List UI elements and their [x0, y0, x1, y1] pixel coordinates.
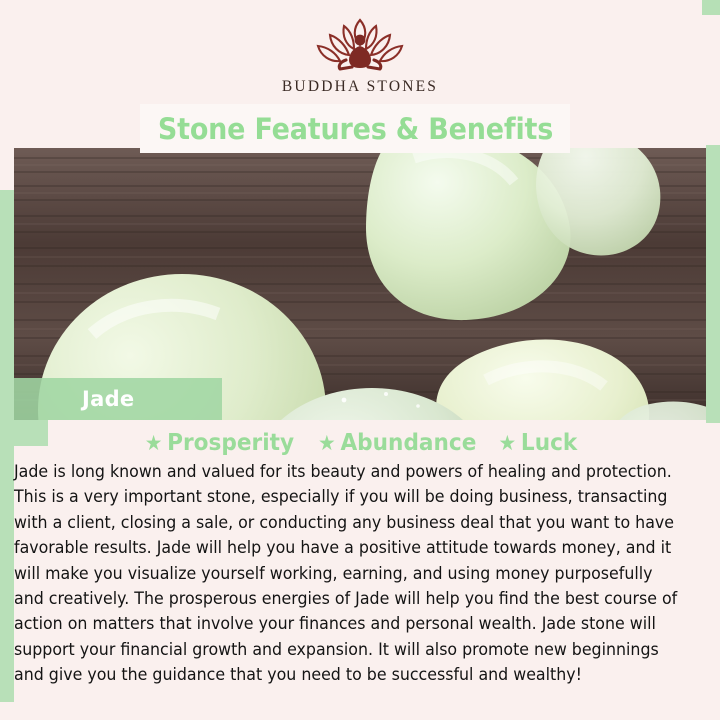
- brand-name: BUDDHA STONES: [282, 78, 438, 96]
- right-green-stripe: [706, 145, 720, 423]
- brand-logo: BUDDHA STONES: [0, 14, 720, 110]
- title-banner: Stone Features & Benefits: [140, 104, 570, 153]
- star-icon: ★: [145, 433, 163, 454]
- stone-description: Jade is long known and valued for its be…: [14, 459, 684, 688]
- benefit-abundance: ★ Abundance: [318, 430, 476, 456]
- benefit-luck: ★ Luck: [498, 430, 577, 456]
- benefit-label: Prosperity: [168, 430, 295, 456]
- benefit-label: Abundance: [341, 430, 477, 456]
- star-icon: ★: [498, 433, 516, 454]
- lotus-meditation-figure-icon: [306, 14, 414, 76]
- benefit-prosperity: ★ Prosperity: [145, 430, 294, 456]
- left-green-stripe: [0, 190, 14, 702]
- benefit-label: Luck: [521, 430, 577, 456]
- stone-name-label: Jade: [82, 387, 134, 411]
- stone-name-band: Jade: [14, 378, 222, 420]
- jade-stone-info-card: BUDDHA STONES Stone Features & Benefits: [0, 0, 720, 720]
- star-icon: ★: [318, 433, 336, 454]
- benefits-row: ★ Prosperity ★ Abundance ★ Luck: [14, 430, 706, 456]
- page-title: Stone Features & Benefits: [157, 112, 552, 146]
